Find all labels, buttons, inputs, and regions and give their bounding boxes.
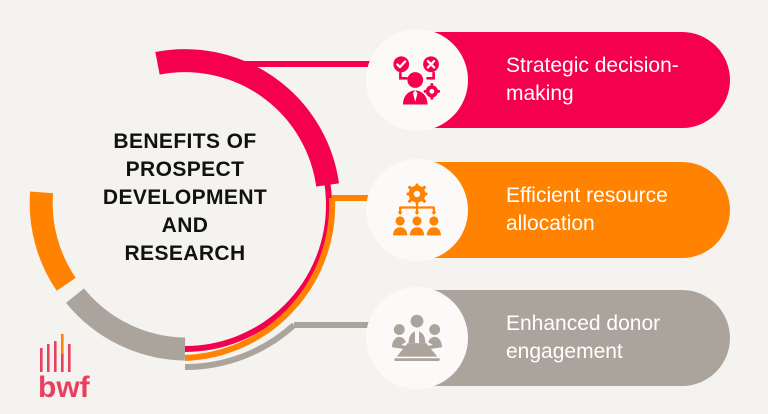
bwf-wordmark: bwf bbox=[38, 371, 91, 400]
infographic-canvas: BENEFITS OF PROSPECT DEVELOPMENT AND RES… bbox=[0, 0, 768, 414]
benefit-label: Enhanced donor engagement bbox=[506, 310, 684, 365]
bwf-logo-bars bbox=[40, 334, 71, 372]
page-title: BENEFITS OF PROSPECT DEVELOPMENT AND RES… bbox=[55, 128, 315, 268]
benefit-card-strategic-decision-making[interactable]: Strategic decision- making bbox=[378, 32, 730, 128]
benefit-card-efficient-resource-allocation[interactable]: Efficient resource allocation bbox=[378, 162, 730, 258]
donor-meeting-icon bbox=[390, 311, 444, 365]
benefit-icon-badge bbox=[366, 159, 468, 261]
resource-allocation-icon bbox=[390, 183, 444, 237]
decision-making-icon bbox=[389, 52, 445, 108]
benefit-label: Efficient resource allocation bbox=[506, 182, 692, 237]
bwf-logo[interactable]: bwf bbox=[38, 332, 110, 400]
benefit-card-enhanced-donor-engagement[interactable]: Enhanced donor engagement bbox=[378, 290, 730, 386]
benefit-icon-badge bbox=[366, 29, 468, 131]
benefit-label: Strategic decision- making bbox=[506, 52, 703, 107]
benefit-icon-badge bbox=[366, 287, 468, 389]
